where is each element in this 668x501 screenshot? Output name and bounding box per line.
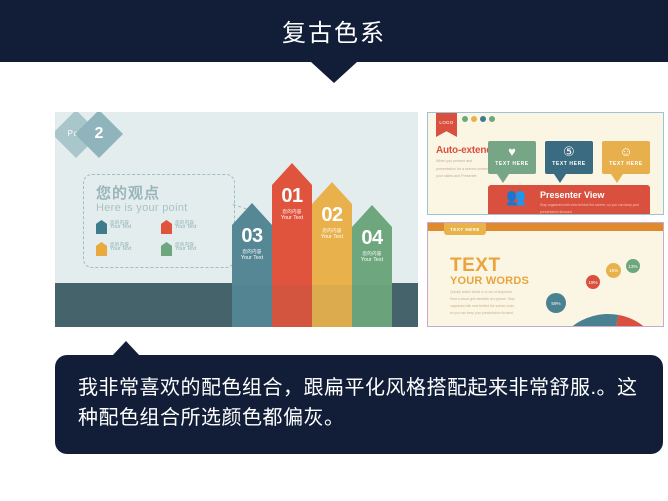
percent-bubble: 59% [546,293,566,313]
bubble-label: TEXT HERE [602,161,650,167]
page-title: 复古色系 [0,13,668,48]
point-item-labels: 您的内容Your Text [110,220,131,231]
arrow-number: 03 [232,225,272,248]
point-item: 您的内容Your Text [96,220,161,242]
logo-ribbon-icon: LOGO [436,113,457,137]
presenter-view-title: Presenter View [540,190,604,200]
your-words-body: Quickly switch slides in or out of seque… [450,289,518,317]
smiley-icon: ☺ [602,145,650,158]
speech-box-subtitle: Here is your point [96,202,188,214]
arrow-step-02: 02您的内容Your Text [312,182,352,285]
logo-ribbon-label: LOGO [439,120,453,125]
your-words-subtitle: YOUR WORDS [450,275,529,287]
point-item: 您的内容Your Text [161,220,226,242]
color-dots [462,116,498,122]
arrow-en-label: Your Text [312,234,352,240]
home-icon [96,242,107,256]
auto-extend-headline: Auto-extend [436,145,492,156]
point-item-en: Your Text [175,225,196,231]
home-icon [161,220,172,234]
bubble-tail-icon [497,174,509,183]
presenter-view-body: Stay organized with view behind the scre… [540,202,640,215]
auto-extend-body: When you present and presentation for a … [436,158,492,181]
speech-box-icon-grid: 您的内容Your Text您的内容Your Text您的内容Your Text您… [96,220,226,264]
point-item-labels: 您的内容Your Text [175,220,196,231]
caption-text: 我非常喜欢的配色组合，跟扁平化风格搭配起来非常舒服.。这种配色组合所选颜色都偏灰… [78,373,638,433]
arrow-en-label: Your Text [272,215,312,221]
caption-pointer-icon [112,341,140,356]
arrow-en-label: Your Text [232,255,272,261]
color-dot [471,116,477,122]
bubble-tail-icon [554,174,566,183]
heart-icon: ♥ [488,145,536,158]
caption-bubble: 我非常喜欢的配色组合，跟扁平化风格搭配起来非常舒服.。这种配色组合所选颜色都偏灰… [55,355,663,454]
thumbnail-auto-extend[interactable]: LOGO Auto-extend When you present and pr… [427,112,664,215]
donut-segment [550,314,618,327]
main-slide-thumbnail[interactable]: Part 2 您的观点 Here is your point 您的内容Your … [55,112,418,327]
home-icon [161,242,172,256]
bubble-tail-icon [611,174,623,183]
home-icon [96,220,107,234]
point-item-en: Your Text [110,247,131,253]
arrow-step-04: 04您的内容Your Text [352,205,392,285]
percent-bubble: 13% [626,259,640,273]
percent-bubble: 19% [586,275,600,289]
presenter-view-panel: 👥 Presenter View Stay organized with vie… [488,185,650,215]
point-item-labels: 您的内容Your Text [110,242,131,253]
your-point-speech-box: 您的观点 Here is your point 您的内容Your Text您的内… [83,174,235,268]
badge-number-label: 2 [82,117,116,151]
text-here-tab[interactable]: TEXT HERE [444,223,486,235]
your-words-title: TEXT [450,255,501,277]
percent-bubble: 15% [606,263,621,278]
bubble-label: TEXT HERE [545,161,593,167]
point-item-en: Your Text [175,247,196,253]
people-icon: 👥 [506,190,526,206]
color-dot [480,116,486,122]
donut-segment [614,315,647,327]
arrow-number: 02 [312,204,352,227]
slide-page: 复古色系 Part 2 您的观点 Here is your point 您的内容… [0,0,668,501]
point-item: 您的内容Your Text [161,242,226,264]
color-dot [462,116,468,122]
arrow-step-01: 01您的内容Your Text [272,163,312,285]
header-pointer-icon [311,62,357,83]
bubble-label: TEXT HERE [488,161,536,167]
arrow-number: 01 [272,185,312,208]
point-item: 您的内容Your Text [96,242,161,264]
text-here-bubble: ⑤TEXT HERE [545,141,593,174]
speech-box-title: 您的观点 [96,182,160,203]
header-bar: 复古色系 [0,0,668,62]
point-item-en: Your Text [110,225,131,231]
thumbnail-your-words[interactable]: TEXT HERE TEXT YOUR WORDS Quickly switch… [427,222,664,327]
color-dot [489,116,495,122]
arrow-en-label: Your Text [352,257,392,263]
text-here-bubble: ♥TEXT HERE [488,141,536,174]
text-here-bubble: ☺TEXT HERE [602,141,650,174]
dollar-icon: ⑤ [545,145,593,158]
point-item-labels: 您的内容Your Text [175,242,196,253]
arrow-number: 04 [352,227,392,250]
